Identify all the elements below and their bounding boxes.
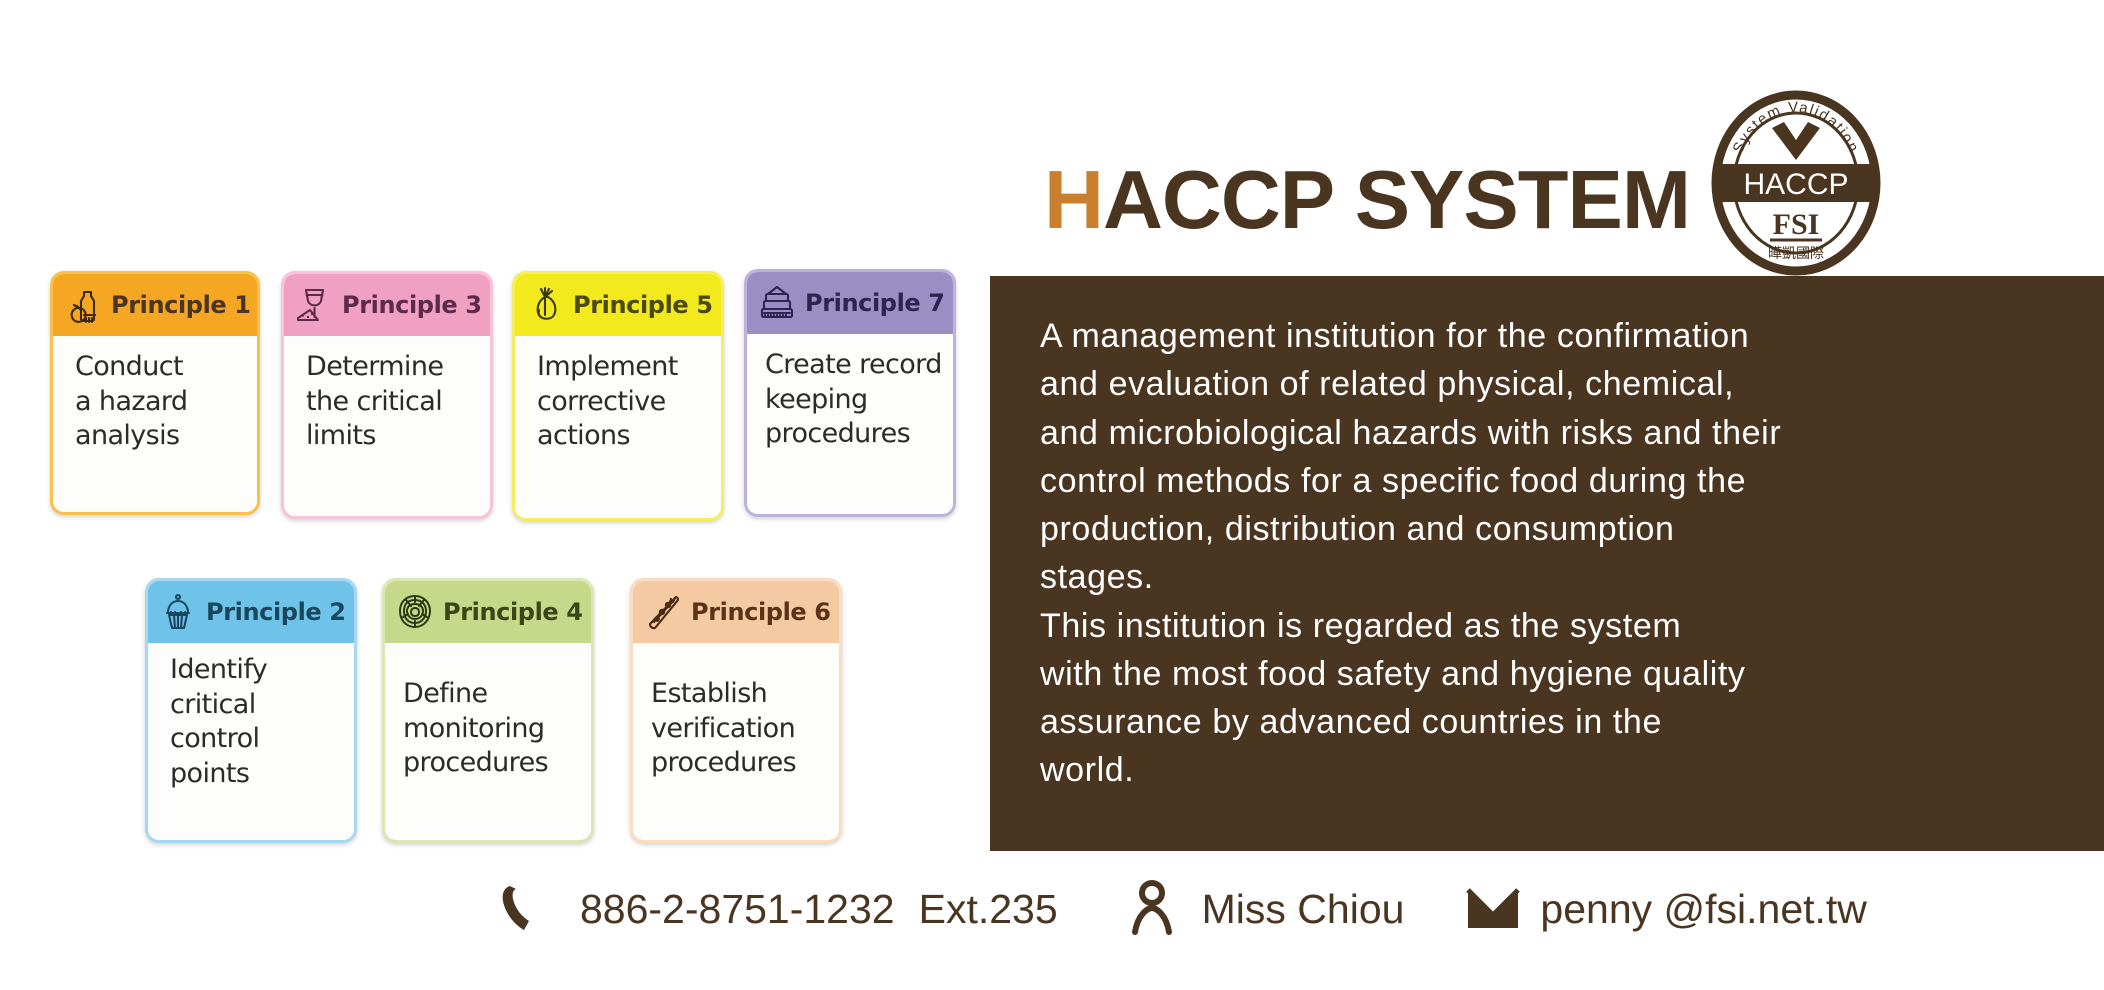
poster-canvas: HACCP SYSTEM System Validation HACCP (0, 0, 2104, 990)
principle-card-header: Principle 3 (284, 274, 490, 336)
description-line: world. (1040, 746, 2050, 794)
principle-card-4[interactable]: Principle 4 Define monitoring procedures (382, 578, 594, 843)
principle-card-line: Implement (537, 350, 721, 385)
principle-card-line: keeping (765, 383, 953, 418)
principle-card-line: Create record (765, 348, 953, 383)
principle-card-body: Create record keeping procedures (747, 334, 953, 514)
phone-number: 886-2-8751-1232 (580, 886, 895, 933)
principle-card-line: points (170, 757, 354, 792)
cupcake-icon (156, 590, 200, 634)
principle-card-body: Identify critical control points (148, 643, 354, 840)
principle-card-line: verification (651, 712, 839, 747)
principle-card-line: control (170, 722, 354, 757)
principle-card-line: Establish (651, 677, 839, 712)
principle-card-label: Principle 5 (573, 291, 713, 319)
principle-card-line: procedures (765, 417, 953, 452)
description-line: production, distribution and consumption (1040, 505, 2050, 553)
haccp-certification-logo: System Validation HACCP FSI 曄凱國際 (1708, 88, 1884, 278)
page-title: HACCP SYSTEM (1044, 158, 1690, 241)
checkmark-icon (1772, 122, 1820, 160)
description-line: with the most food safety and hygiene qu… (1040, 650, 2050, 698)
principle-card-body: Establish verification procedures (633, 643, 839, 840)
principle-card-line: procedures (651, 746, 839, 781)
principle-card-line: critical (170, 688, 354, 723)
phone-contact[interactable]: 886-2-8751-1232 Ext.235 (500, 880, 1058, 938)
description-line: assurance by advanced countries in the (1040, 698, 2050, 746)
principle-card-body: Determine the critical limits (284, 336, 490, 516)
principle-card-line: Identify (170, 653, 354, 688)
description-text: A management institution for the confirm… (1040, 312, 2050, 795)
person-name: Miss Chiou (1202, 886, 1405, 933)
principle-card-line: analysis (75, 419, 257, 454)
principle-card-line: the critical (306, 385, 490, 420)
phone-icon (500, 880, 554, 938)
principle-card-line: limits (306, 419, 490, 454)
wine-glass-and-cheese-icon (292, 283, 336, 327)
description-line: stages. (1040, 553, 2050, 601)
principle-card-1[interactable]: Principle 1 Conduct a hazard analysis (50, 271, 260, 515)
principle-card-line: monitoring (403, 712, 591, 747)
layered-cake-icon (755, 281, 799, 325)
principle-card-body: Conduct a hazard analysis (53, 336, 257, 512)
description-line: A management institution for the confirm… (1040, 312, 2050, 360)
principle-card-label: Principle 6 (691, 598, 831, 626)
principle-card-6[interactable]: Principle 6 Establish verification proce… (630, 578, 842, 843)
envelope-icon (1462, 884, 1524, 934)
description-panel: A management institution for the confirm… (990, 276, 2104, 851)
page-title-highlight: H (1044, 153, 1103, 246)
person-contact: Miss Chiou (1128, 880, 1405, 938)
principle-card-line: a hazard (75, 385, 257, 420)
logo-band-text: HACCP (1743, 168, 1848, 201)
logo-org-text: FSI (1773, 208, 1820, 241)
principle-card-body: Define monitoring procedures (385, 643, 591, 840)
garlic-bulb-icon (523, 283, 567, 327)
principle-card-label: Principle 7 (805, 289, 945, 317)
principle-card-3[interactable]: Principle 3 Determine the critical limit… (281, 271, 493, 519)
pizza-slice-icon (641, 590, 685, 634)
principle-card-label: Principle 3 (342, 291, 482, 319)
principle-card-2[interactable]: Principle 2 Identify critical control po… (145, 578, 357, 843)
person-icon (1128, 880, 1176, 938)
email-contact[interactable]: penny @fsi.net.tw (1462, 884, 1867, 934)
logo-org-text-cn: 曄凱國際 (1768, 246, 1824, 262)
principle-card-line: Conduct (75, 350, 257, 385)
principle-card-line: procedures (403, 746, 591, 781)
principle-card-header: Principle 4 (385, 581, 591, 643)
bottle-and-apple-icon (61, 283, 105, 327)
principle-card-header: Principle 1 (53, 274, 257, 336)
principle-card-5[interactable]: Principle 5 Implement corrective actions (512, 271, 724, 521)
principle-card-line: Determine (306, 350, 490, 385)
principle-card-label: Principle 4 (443, 598, 583, 626)
principle-card-line: Define (403, 677, 591, 712)
phone-extension: Ext.235 (919, 886, 1058, 933)
principle-card-line: corrective (537, 385, 721, 420)
description-line: This institution is regarded as the syst… (1040, 602, 2050, 650)
description-line: and microbiological hazards with risks a… (1040, 409, 2050, 457)
principle-card-7[interactable]: Principle 7 Create record keeping proced… (744, 269, 956, 517)
principle-card-header: Principle 6 (633, 581, 839, 643)
page-title-rest: ACCP SYSTEM (1103, 153, 1690, 246)
description-line: and evaluation of related physical, chem… (1040, 360, 2050, 408)
principle-card-body: Implement corrective actions (515, 336, 721, 518)
principle-card-label: Principle 2 (206, 598, 346, 626)
principle-card-header: Principle 5 (515, 274, 721, 336)
email-address: penny @fsi.net.tw (1540, 886, 1867, 933)
contact-bar: 886-2-8751-1232 Ext.235 Miss Chiou (500, 880, 1867, 938)
principle-card-line: actions (537, 419, 721, 454)
description-line: control methods for a specific food duri… (1040, 457, 2050, 505)
principle-card-label: Principle 1 (111, 291, 251, 319)
lettuce-icon (393, 590, 437, 634)
principle-card-header: Principle 7 (747, 272, 953, 334)
principle-card-header: Principle 2 (148, 581, 354, 643)
